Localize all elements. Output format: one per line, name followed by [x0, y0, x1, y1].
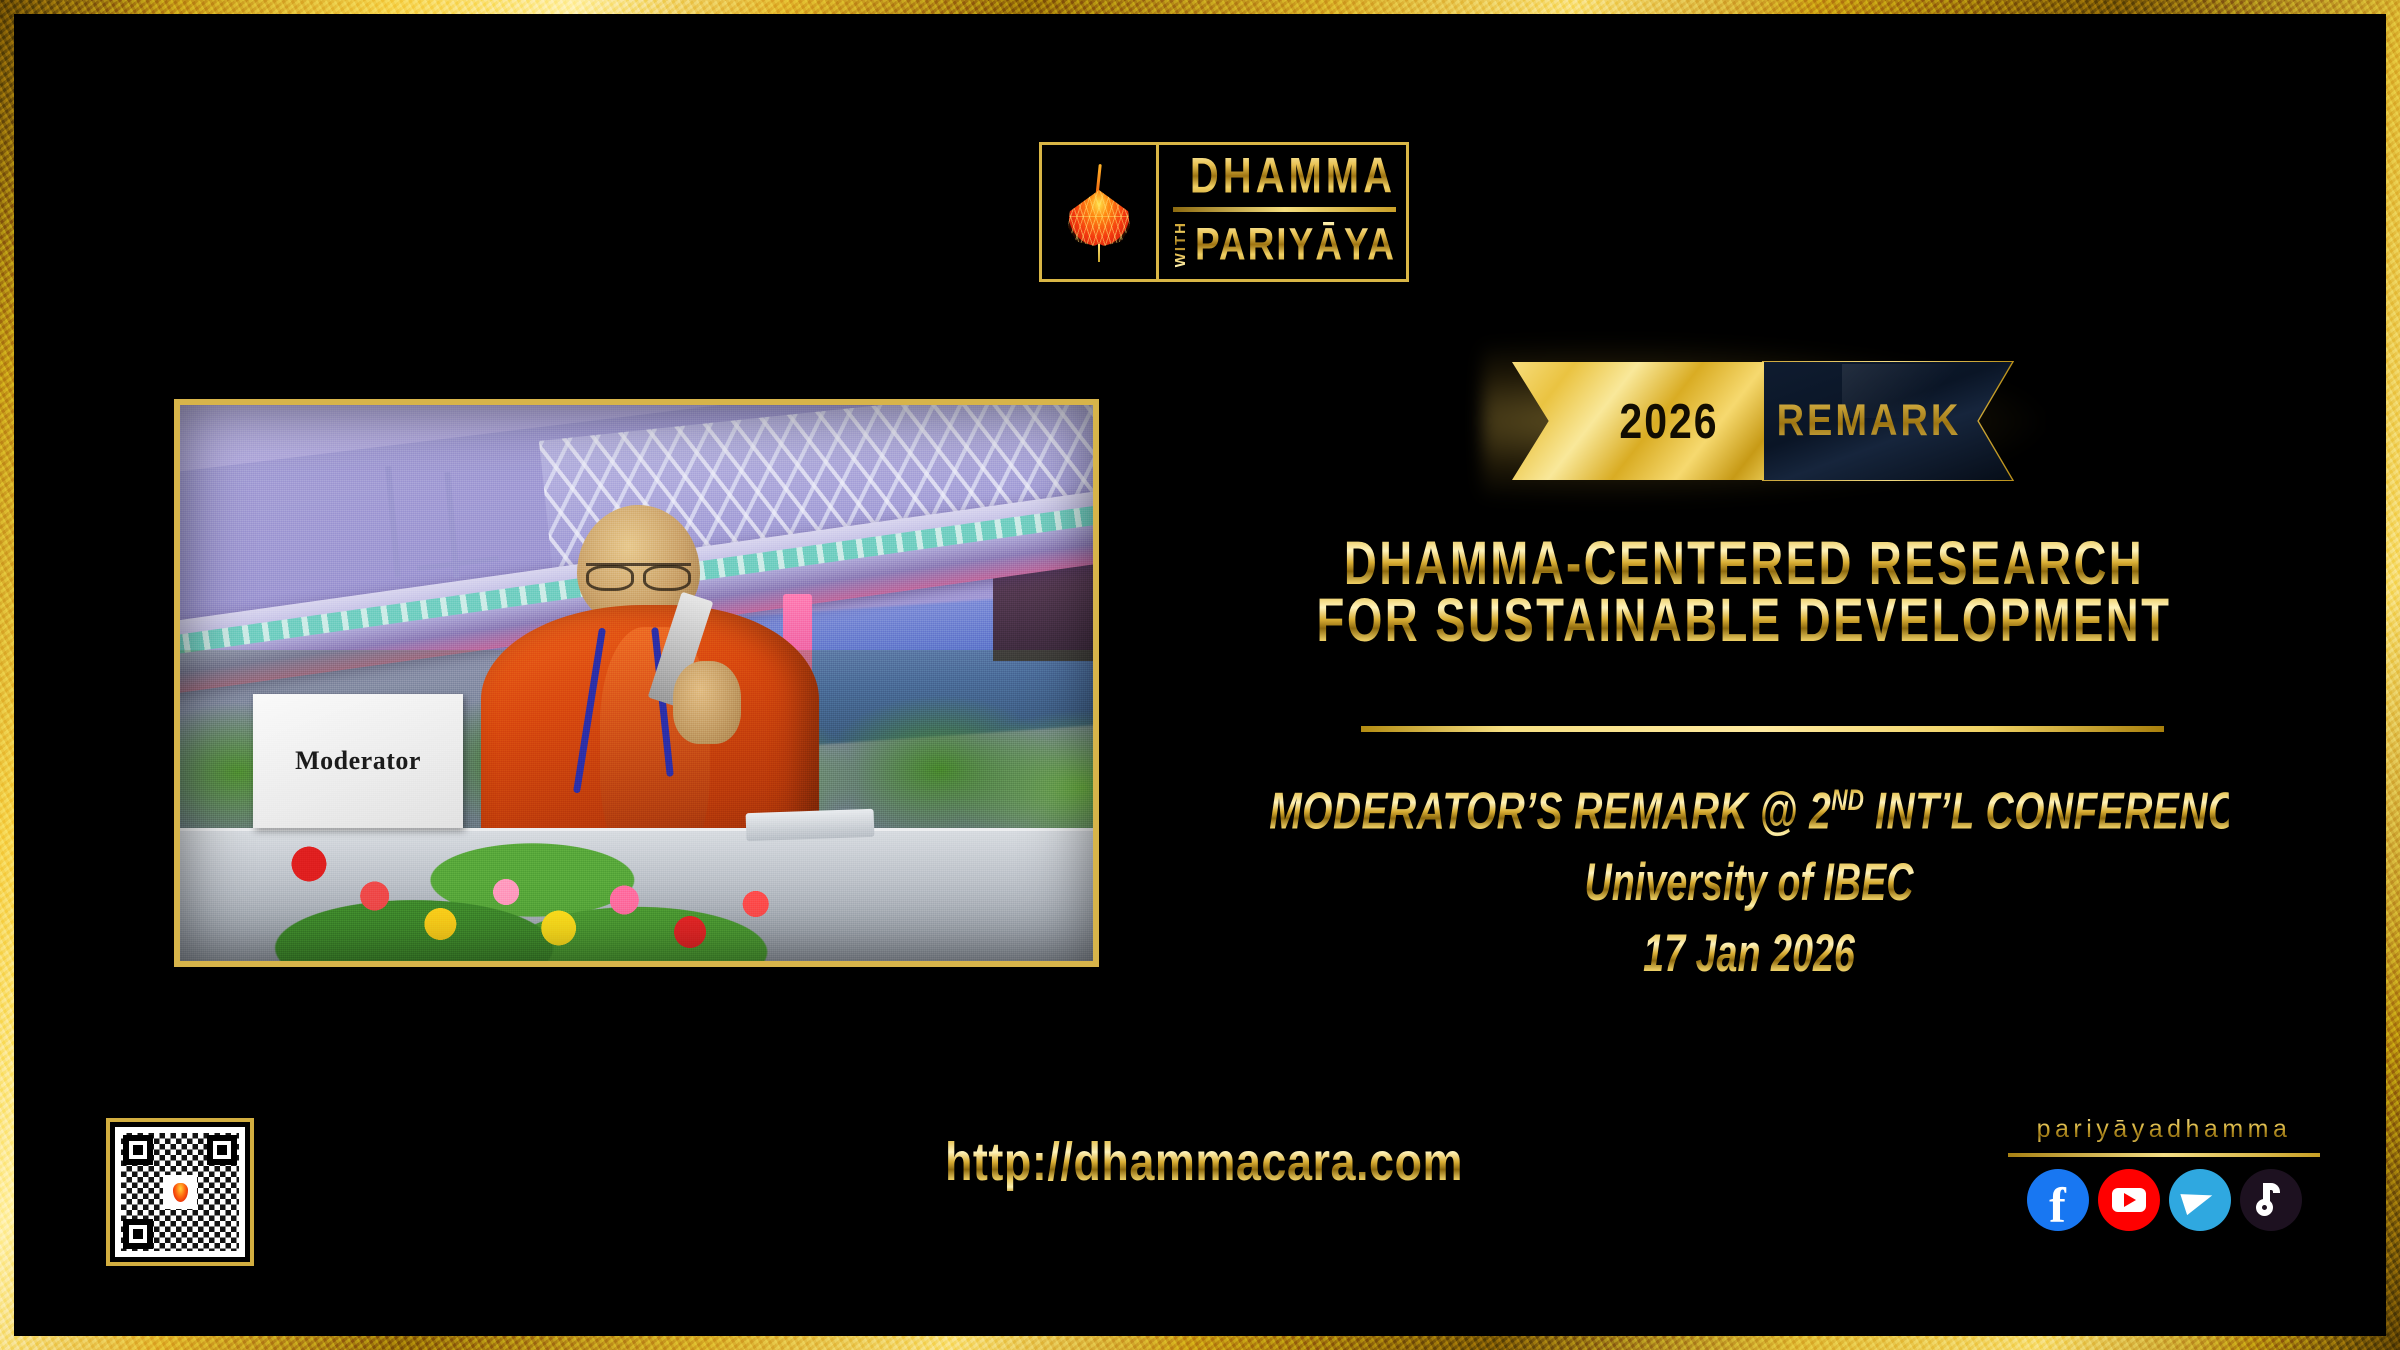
poster-gold-frame: DHAMMA WITH PARIYĀYA — [0, 0, 2400, 1350]
photo-vignette — [180, 405, 1093, 961]
facebook-icon[interactable]: f — [2027, 1169, 2089, 1231]
logo-leaf-cell — [1042, 145, 1159, 279]
youtube-icon[interactable] — [2098, 1169, 2160, 1231]
logo-text-cell: DHAMMA WITH PARIYĀYA — [1159, 145, 1406, 279]
remark-ribbon-banner: 2026 REMARK — [1512, 362, 2012, 480]
subtitle-line-2: University of IBEC — [1284, 853, 2213, 912]
telegram-icon[interactable] — [2169, 1169, 2231, 1231]
facebook-glyph: f — [2049, 1180, 2066, 1230]
qr-code[interactable] — [115, 1127, 245, 1257]
tiktok-note-ball — [2256, 1199, 2273, 1216]
subtitle-prefix: MODERATOR’S REMARK @ 2 — [1269, 782, 1831, 840]
headline-line-2: FOR SUSTAINABLE DEVELOPMENT — [1308, 583, 2181, 658]
youtube-glyph — [2112, 1188, 2146, 1212]
website-url[interactable]: http://dhammacara.com — [774, 1131, 1634, 1193]
bodhi-leaf-icon — [1068, 164, 1130, 260]
qr-finder-top-left — [123, 1135, 153, 1165]
subtitle-ordinal: ND — [1831, 784, 1864, 818]
leaf-tail — [1098, 244, 1100, 262]
brand-logo[interactable]: DHAMMA WITH PARIYĀYA — [1039, 142, 1409, 282]
qr-center-logo — [163, 1175, 197, 1209]
ribbon-year-text: 2026 — [1564, 350, 1774, 492]
tiktok-note-hook — [2263, 1183, 2280, 1193]
tiktok-glyph — [2256, 1183, 2286, 1217]
qr-code-frame[interactable] — [106, 1118, 254, 1266]
logo-wordmark-secondary: PARIYĀYA — [1195, 222, 1396, 267]
logo-wordmark-primary: DHAMMA — [1173, 151, 1396, 201]
logo-divider — [1173, 207, 1396, 212]
headline-block: DHAMMA-CENTERED RESEARCH FOR SUSTAINABLE… — [1294, 534, 2194, 649]
social-underline — [2008, 1153, 2320, 1157]
subtitle-suffix: INT’L CONFERENCE — [1864, 782, 2263, 840]
headline-divider — [1361, 726, 2164, 732]
ribbon-label-text: REMARK — [1764, 351, 1974, 490]
bodhi-leaf-icon — [173, 1183, 188, 1202]
qr-finder-top-right — [207, 1135, 237, 1165]
social-block: pariyāyadhamma f — [2004, 1114, 2324, 1231]
logo-connector-with: WITH — [1173, 221, 1188, 267]
telegram-glyph — [2180, 1185, 2215, 1215]
tiktok-icon[interactable] — [2240, 1169, 2302, 1231]
subtitle-line-1: MODERATOR’S REMARK @ 2ND INT’L CONFERENC… — [1269, 783, 2229, 840]
logo-bottom-row: WITH PARIYĀYA — [1173, 221, 1396, 267]
leaf-veins — [1068, 190, 1130, 246]
social-icon-row: f — [2004, 1169, 2324, 1231]
poster-canvas: DHAMMA WITH PARIYĀYA — [14, 14, 2386, 1336]
social-handle-text: pariyāyadhamma — [2004, 1114, 2324, 1144]
subtitle-line-3: 17 Jan 2026 — [1284, 924, 2213, 983]
speaker-photo-frame: Moderator — [174, 399, 1099, 967]
youtube-play-triangle — [2124, 1193, 2136, 1207]
qr-finder-bottom-left — [123, 1219, 153, 1249]
subtitle-block: MODERATOR’S REMARK @ 2ND INT’L CONFERENC… — [1244, 789, 2254, 976]
speaker-photo: Moderator — [180, 405, 1093, 961]
